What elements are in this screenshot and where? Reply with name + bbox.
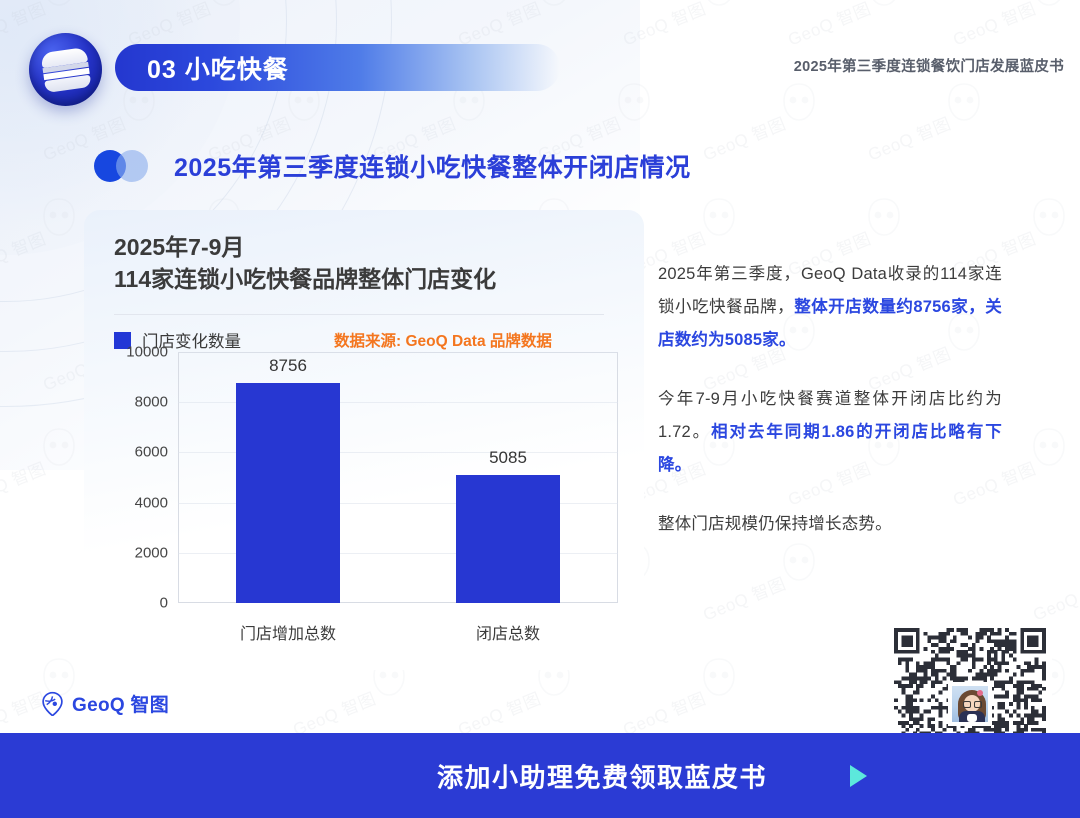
bar[interactable]: 8756 bbox=[236, 383, 340, 603]
chart-card-title: 2025年7-9月 114家连锁小吃快餐品牌整体门店变化 bbox=[114, 232, 496, 295]
watermark-text: GeoQ 智图 bbox=[1029, 570, 1080, 626]
paragraph-1: 2025年第三季度，GeoQ Data收录的114家连锁小吃快餐品牌，整体开店数… bbox=[658, 258, 1002, 357]
bar[interactable]: 5085 bbox=[456, 475, 560, 603]
section-number-pill: 03 小吃快餐 bbox=[115, 44, 560, 91]
cta-banner-text: 添加小助理免费领取蓝皮书 bbox=[437, 757, 767, 794]
chart-title-line-1: 2025年7-9月 bbox=[114, 232, 496, 264]
watermark-text: GeoQ 智图 bbox=[699, 570, 790, 626]
y-axis-tick: 2000 bbox=[135, 544, 168, 561]
data-source-note: 数据来源: GeoQ Data 品牌数据 bbox=[334, 329, 552, 351]
burger-sphere-icon bbox=[29, 33, 102, 106]
report-title: 2025年第三季度连锁餐饮门店发展蓝皮书 bbox=[794, 55, 1064, 76]
grid-line bbox=[178, 352, 618, 353]
watermark-owl-icon bbox=[702, 658, 736, 696]
chart-title-line-2: 114家连锁小吃快餐品牌整体门店变化 bbox=[114, 264, 496, 296]
geoq-logo: GeoQ 智图 bbox=[40, 690, 169, 717]
watermark-owl-icon bbox=[702, 198, 736, 236]
section-title-text: 2025年第三季度连锁小吃快餐整体开闭店情况 bbox=[174, 148, 691, 184]
p3-plain: 整体门店规模仍保持增长态势。 bbox=[658, 515, 892, 533]
watermark-owl-icon bbox=[1032, 198, 1066, 236]
y-axis-tick: 4000 bbox=[135, 494, 168, 511]
section-number-label: 03 小吃快餐 bbox=[147, 50, 289, 86]
bar-chart-plot: 02000400060008000100008756门店增加总数5085闭店总数 bbox=[178, 352, 618, 603]
x-axis-tick: 门店增加总数 bbox=[240, 620, 336, 644]
slide-page: GeoQ 智图GeoQ 智图GeoQ 智图GeoQ 智图GeoQ 智图GeoQ … bbox=[0, 0, 1080, 818]
burger-icon bbox=[40, 46, 91, 92]
watermark-owl-icon bbox=[42, 198, 76, 236]
section-title: 2025年第三季度连锁小吃快餐整体开闭店情况 bbox=[94, 148, 691, 184]
card-divider bbox=[114, 314, 604, 315]
chart-card: 2025年7-9月 114家连锁小吃快餐品牌整体门店变化 门店变化数量 数据来源… bbox=[84, 210, 644, 670]
analysis-copy: 2025年第三季度，GeoQ Data收录的114家连锁小吃快餐品牌，整体开店数… bbox=[658, 258, 1002, 567]
y-axis-tick: 6000 bbox=[135, 444, 168, 461]
paragraph-3: 整体门店规模仍保持增长态势。 bbox=[658, 508, 1002, 541]
geoq-wordmark: GeoQ 智图 bbox=[72, 690, 169, 717]
bar-value-label: 8756 bbox=[269, 356, 307, 376]
assistant-avatar bbox=[950, 684, 990, 724]
watermark-owl-icon bbox=[1032, 428, 1066, 466]
watermark-owl-icon bbox=[867, 198, 901, 236]
play-arrow-icon bbox=[850, 765, 867, 787]
two-circles-icon bbox=[94, 150, 156, 182]
bar-value-label: 5085 bbox=[489, 448, 527, 468]
watermark-owl-icon bbox=[42, 428, 76, 466]
slide-header: 03 小吃快餐 2025年第三季度连锁餐饮门店发展蓝皮书 bbox=[0, 0, 1080, 120]
y-axis-tick: 0 bbox=[160, 595, 168, 612]
x-axis-tick: 闭店总数 bbox=[476, 620, 540, 644]
watermark-text: GeoQ 智图 bbox=[0, 455, 49, 511]
paragraph-2: 今年7-9月小吃快餐赛道整体开闭店比约为1.72。相对去年同期1.86的开闭店比… bbox=[658, 383, 1002, 482]
watermark-text: GeoQ 智图 bbox=[0, 225, 49, 281]
y-axis-tick: 10000 bbox=[126, 344, 168, 361]
y-axis-tick: 8000 bbox=[135, 394, 168, 411]
cta-banner[interactable]: 添加小助理免费领取蓝皮书 bbox=[0, 733, 1080, 818]
geoq-pin-icon bbox=[40, 691, 65, 716]
